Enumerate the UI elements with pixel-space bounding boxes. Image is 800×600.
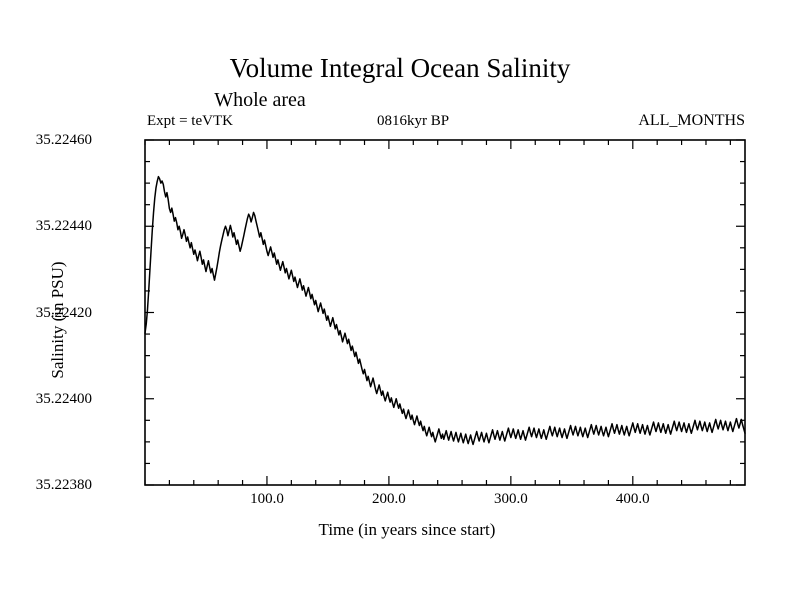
salinity-plot-figure: Volume Integral Ocean Salinity Whole are… xyxy=(0,0,800,600)
plot-canvas xyxy=(0,0,800,600)
